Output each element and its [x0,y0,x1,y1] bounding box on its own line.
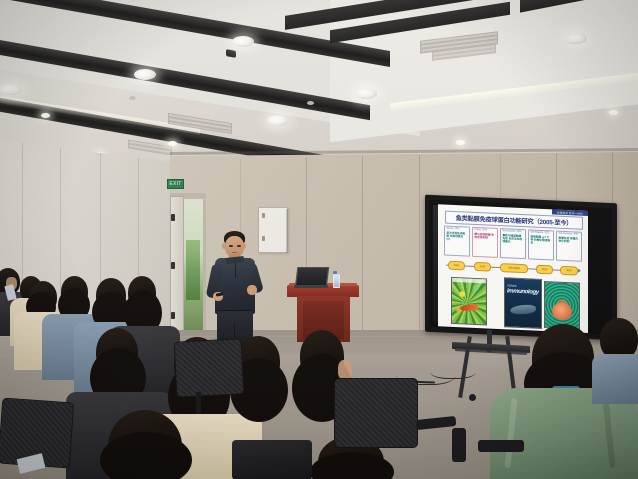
slide-title-text: 鱼类黏膜免疫球蛋白功能研究（2005-至今） [456,213,573,227]
timeline-marker: 2010 [474,262,491,272]
slide-timeline: 2005 2010 2013-2016 2020 2024 [446,261,580,276]
ceiling-track-light [355,88,377,99]
ceiling-track-light [267,115,289,126]
ceiling-downlight [41,113,50,118]
timeline-label: 2010 [480,265,485,268]
av-control-panel[interactable] [258,207,288,253]
slide-box-row: Nature, 2010 首次发现鱼类黏膜 免疫球蛋白 IgT PNAS, 20… [444,226,582,262]
slide-box: PNAS, 2013 鳃与皮肤黏膜 免疫应答机制 [472,227,498,258]
slide-box: Nat Commun, 2024 黏膜免疫 球蛋白进化机制 [556,231,582,262]
tv-screen[interactable]: 智慧黑板 教学一体机 鱼类黏膜免疫球蛋白功能研究（2005-至今） Nature… [429,200,612,335]
exit-sign: EXIT [167,179,184,189]
attendee-body [592,354,638,404]
journal-name: nature [507,283,517,287]
seminar-room-photo: EXIT 智慧黑板 教学一体机 鱼类黏膜免疫球蛋白功能研究（2005-至今） [0,0,638,479]
slide-box: Cell Reports, 2022 肠道黏膜 IgT 介导 的微生物组稳态 [528,229,554,260]
slide-status-text: 智慧黑板 教学一体机 [557,210,583,215]
chair-armrest[interactable] [478,440,524,452]
av-cable [430,362,476,379]
slide-box: Sci Immunol, 2020 鼻腔与咽部黏膜免疫 反应及免疫球蛋白 [500,228,526,259]
wall-display[interactable]: 智慧黑板 教学一体机 鱼类黏膜免疫球蛋白功能研究（2005-至今） Nature… [425,195,617,341]
timeline-label: 2020 [542,268,547,271]
office-chair-back[interactable] [334,378,418,448]
slide-box: Nature, 2010 首次发现鱼类黏膜 免疫球蛋白 IgT [444,226,470,257]
exit-sign-label: EXIT [169,181,181,187]
timeline-label: 2013-2016 [508,266,519,270]
timeline-marker: 2020 [536,265,553,275]
laptop-base[interactable] [294,285,328,288]
journal-cover-row: nature immunology [448,275,580,329]
timeline-label: 2005 [454,264,459,267]
timeline-label: 2024 [566,269,571,272]
slide-box-body: 首次发现鱼类黏膜 免疫球蛋白 IgT [446,231,467,242]
journal-cover-fish-immunology [451,277,487,326]
ceiling-downlight [609,110,618,115]
chair-armrest[interactable] [452,428,466,462]
journal-cover-mucosal-immunology [544,281,580,330]
slide-box-body: 鳃与皮肤黏膜 免疫应答机制 [474,233,495,241]
presentation-slide: 智慧黑板 教学一体机 鱼类黏膜免疫球蛋白功能研究（2005-至今） Nature… [438,204,588,333]
office-chair-back[interactable] [174,338,245,397]
smoke-detector [307,101,314,105]
timeline-marker: 2005 [448,261,465,271]
timeline-marker: 2013-2016 [500,263,528,273]
ceiling-downlight [168,141,177,146]
ceiling-track-light [232,36,254,47]
office-chair-seat[interactable] [232,440,312,479]
journal-cover-nature-immunology: nature immunology [504,277,542,329]
slide-box-body: 黏膜免疫 球蛋白进化机制 [559,236,580,244]
presenter-hand-right [247,285,257,295]
water-bottle[interactable] [333,274,340,288]
slide-box-body: 肠道黏膜 IgT 介导 的微生物组稳态 [530,235,551,246]
journal-title: immunology [507,288,539,295]
slide-box-body: 鼻腔与咽部黏膜免疫 反应及免疫球蛋白 [502,234,523,245]
bottle-cap [333,271,337,274]
ceiling-track-light [134,69,156,80]
stand-caster [469,394,476,401]
timeline-marker: 2024 [560,266,578,276]
ceiling-track-light [565,33,587,44]
ceiling-downlight [456,140,465,145]
ceiling-track-light [0,84,22,95]
